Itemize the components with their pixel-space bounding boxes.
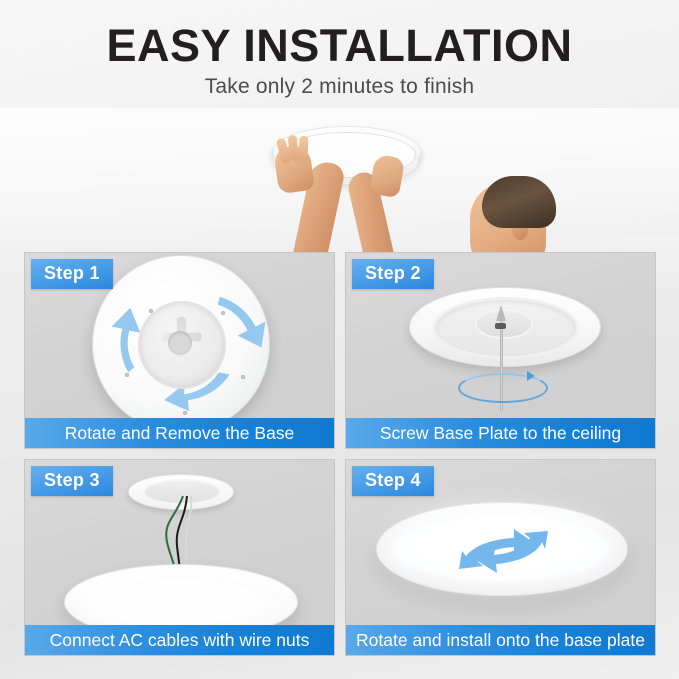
step-caption-3: Connect AC cables with wire nuts (25, 625, 334, 655)
page-subtitle: Take only 2 minutes to finish (0, 69, 679, 99)
screw-icon (241, 375, 245, 379)
header: EASY INSTALLATION Take only 2 minutes to… (0, 0, 679, 112)
page-title: EASY INSTALLATION (0, 0, 679, 69)
screwdriver-tip-icon (496, 305, 506, 321)
hair-icon (482, 176, 556, 228)
step-panel-2[interactable]: Step 2 Screw Base Plate to the ceiling (345, 252, 656, 449)
screwdriver-collar (495, 323, 506, 329)
step-badge-1: Step 1 (31, 259, 113, 289)
infographic-poster: EASY INSTALLATION Take only 2 minutes to… (0, 0, 679, 679)
step-badge-3: Step 3 (31, 466, 113, 496)
screw-icon (149, 309, 153, 313)
step-panel-4[interactable]: Step 4 Rotate and install onto the base … (345, 459, 656, 656)
step-panel-1[interactable]: Step 1 Rotate and Remove the Base (24, 252, 335, 449)
finger-icon (298, 136, 308, 162)
step-badge-2: Step 2 (352, 259, 434, 289)
rotation-arrow-head-icon (527, 371, 535, 381)
screw-icon (125, 373, 129, 377)
step-panel-3[interactable]: Step 3 Connect AC cables with wire nuts (24, 459, 335, 656)
step-caption-4: Rotate and install onto the base plate (346, 625, 655, 655)
step-badge-4: Step 4 (352, 466, 434, 496)
step-caption-1: Rotate and Remove the Base (25, 418, 334, 448)
screw-icon (183, 411, 187, 415)
steps-grid: Step 1 Rotate and Remove the Base Step 2… (24, 252, 656, 656)
hub-center-hole (168, 331, 192, 355)
screw-icon (221, 311, 225, 315)
step-caption-2: Screw Base Plate to the ceiling (346, 418, 655, 448)
